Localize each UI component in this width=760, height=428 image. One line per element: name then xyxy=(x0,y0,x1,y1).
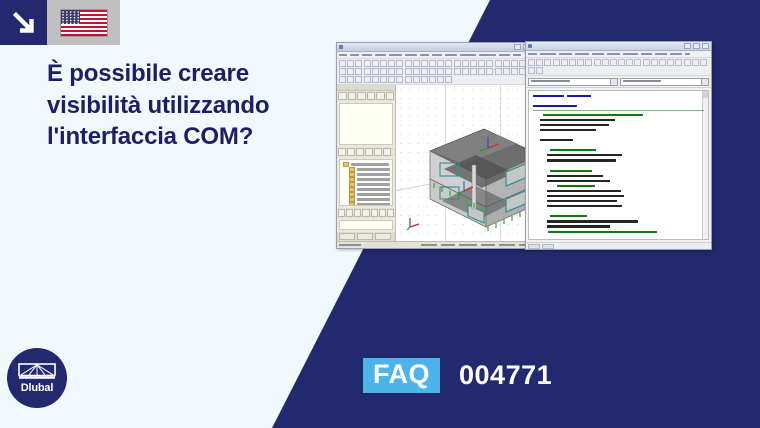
page-title-line-3: l'interfaccia COM? xyxy=(47,121,317,153)
toolbar-icon[interactable] xyxy=(634,59,641,66)
toolbar-icon[interactable] xyxy=(700,59,707,66)
menu-insert[interactable] xyxy=(375,54,386,56)
toolbar-icon[interactable] xyxy=(528,59,535,66)
rfem-title-bar[interactable] xyxy=(337,43,541,52)
navigator-tab-display[interactable] xyxy=(357,233,373,240)
toolbar-icon[interactable] xyxy=(355,60,362,67)
rfem-title-left xyxy=(339,45,343,49)
toolbar-icon[interactable] xyxy=(602,59,609,66)
flag-canton xyxy=(61,10,80,24)
toolbar-icon[interactable] xyxy=(445,68,452,75)
toolbar-icon[interactable] xyxy=(347,60,354,67)
rfem-application-window[interactable] xyxy=(336,42,542,249)
toolbar-icon[interactable] xyxy=(618,59,625,66)
navigator-button[interactable] xyxy=(356,148,364,156)
navigator-tab[interactable] xyxy=(386,92,395,100)
menu-addons[interactable] xyxy=(460,54,476,56)
toolbar-icon[interactable] xyxy=(372,60,379,67)
toolbar-icon[interactable] xyxy=(421,60,428,67)
toolbar-icon[interactable] xyxy=(396,60,403,67)
toolbar-icon[interactable] xyxy=(643,59,650,66)
toolbar-icon[interactable] xyxy=(470,68,477,75)
tree-item-label xyxy=(357,178,391,180)
faq-label: FAQ xyxy=(363,358,440,393)
navigator-tab[interactable] xyxy=(348,92,357,100)
navigator-button[interactable] xyxy=(379,209,386,217)
navigator-tab[interactable] xyxy=(367,92,376,100)
toolbar-icon[interactable] xyxy=(429,68,436,75)
toolbar-icon[interactable] xyxy=(536,59,543,66)
toolbar-icon[interactable] xyxy=(553,59,560,66)
toolbar-icon[interactable] xyxy=(503,68,510,75)
menu-table[interactable] xyxy=(432,54,442,56)
toolbar-icon[interactable] xyxy=(380,60,387,67)
navigator-tab-views[interactable] xyxy=(375,233,391,240)
navigator-tab[interactable] xyxy=(357,92,366,100)
navigator-bottom-tabs[interactable] xyxy=(337,232,395,241)
toolbar-icon[interactable] xyxy=(445,76,452,83)
corner-badges xyxy=(0,0,120,45)
tree-item-label xyxy=(357,188,391,190)
vba-bottom-bar[interactable] xyxy=(526,242,711,249)
procedure-dropdown[interactable] xyxy=(620,78,710,86)
navigator-button[interactable] xyxy=(374,148,382,156)
status-segment xyxy=(459,244,477,246)
menu-ausfuehren[interactable] xyxy=(623,53,638,55)
menu-ansicht[interactable] xyxy=(559,53,572,55)
comment-divider xyxy=(533,110,704,111)
model-viewport[interactable] xyxy=(396,85,541,241)
menu-einfuegen[interactable] xyxy=(575,53,589,55)
toolbar-icon[interactable] xyxy=(594,59,601,66)
arrow-down-right-icon[interactable] xyxy=(0,0,47,45)
toolbar-icon[interactable] xyxy=(339,60,346,67)
page-title: È possibile creare visibilità utilizzand… xyxy=(47,58,317,153)
toolbar-icon[interactable] xyxy=(339,68,346,75)
tree-item-label xyxy=(357,168,391,170)
toolbar-icon[interactable] xyxy=(454,68,461,75)
toolbar-icon[interactable] xyxy=(585,59,592,66)
toolbar-icon[interactable] xyxy=(626,59,633,66)
poster-canvas: È possibile creare visibilità utilizzand… xyxy=(0,0,760,428)
navigator-tab[interactable] xyxy=(338,92,347,100)
project-navigator-panel[interactable] xyxy=(337,85,396,241)
navigator-button[interactable] xyxy=(365,148,373,156)
toolbar-icon[interactable] xyxy=(372,68,379,75)
dlubal-logo[interactable]: Dlubal xyxy=(7,348,67,408)
toolbar-icon[interactable] xyxy=(355,76,362,83)
toolbar-icon[interactable] xyxy=(569,59,576,66)
toolbar-icon[interactable] xyxy=(347,76,354,83)
tree-item-label xyxy=(357,183,391,185)
navigator-bottom-buttons[interactable] xyxy=(337,208,395,218)
toolbar-icon[interactable] xyxy=(405,68,412,75)
faq-identifier: FAQ 004771 xyxy=(363,358,552,393)
object-dropdown[interactable] xyxy=(528,78,618,86)
navigator-tab-data[interactable] xyxy=(339,233,355,240)
toolbar-icon[interactable] xyxy=(364,68,371,75)
toolbar-icon[interactable] xyxy=(405,76,412,83)
us-flag-icon[interactable] xyxy=(47,0,120,45)
toolbar-icon[interactable] xyxy=(421,76,428,83)
toolbar-icon[interactable] xyxy=(429,76,436,83)
status-segment xyxy=(421,244,437,246)
toolbar-icon[interactable] xyxy=(511,60,518,67)
tree-item-label xyxy=(357,198,391,200)
status-text xyxy=(339,244,361,246)
toolbar-icon[interactable] xyxy=(486,60,493,67)
navigator-tab[interactable] xyxy=(376,92,385,100)
toolbar-icon[interactable] xyxy=(364,60,371,67)
minimize-button[interactable] xyxy=(684,43,691,49)
toolbar-icon[interactable] xyxy=(495,68,502,75)
menu-help[interactable] xyxy=(513,54,521,56)
status-segment xyxy=(441,244,455,246)
toolbar-icon[interactable] xyxy=(355,68,362,75)
toolbar-icon[interactable] xyxy=(684,59,691,66)
menu-results[interactable] xyxy=(405,54,417,56)
tree-item-label xyxy=(357,203,391,205)
navigator-mid-buttons[interactable] xyxy=(337,147,395,157)
rfem-app-icon xyxy=(339,45,343,49)
toolbar-icon[interactable] xyxy=(388,60,395,67)
maximize-button[interactable] xyxy=(693,43,700,49)
toolbar-icon[interactable] xyxy=(528,67,535,74)
menu-format[interactable] xyxy=(592,53,604,55)
toolbar-icon[interactable] xyxy=(692,59,699,66)
toolbar-icon[interactable] xyxy=(339,76,346,83)
menu-window[interactable] xyxy=(499,54,510,56)
vba-app-icon xyxy=(528,44,532,48)
tree-item[interactable] xyxy=(342,202,390,206)
tree-item-label xyxy=(357,193,391,195)
toolbar-icon[interactable] xyxy=(675,59,682,66)
model-data-tree[interactable] xyxy=(339,159,393,206)
toolbar-icon[interactable] xyxy=(561,59,568,66)
vba-editor-window[interactable] xyxy=(525,41,712,250)
toolbar-icon[interactable] xyxy=(610,59,617,66)
status-segment xyxy=(499,244,515,246)
vba-window-controls[interactable] xyxy=(684,43,709,49)
toolbar-icon[interactable] xyxy=(454,60,461,67)
toolbar-icon[interactable] xyxy=(437,68,444,75)
toolbar-icon[interactable] xyxy=(503,60,510,67)
toolbar-icon[interactable] xyxy=(421,68,428,75)
toolbar-icon[interactable] xyxy=(544,59,551,66)
toolbar-icon[interactable] xyxy=(396,76,403,83)
page-title-line-1: È possibile creare xyxy=(47,58,317,90)
toolbar-icon[interactable] xyxy=(462,68,469,75)
vba-title-left xyxy=(528,44,532,48)
navigator-button[interactable] xyxy=(338,148,346,156)
code-scrollbar[interactable] xyxy=(702,91,708,239)
vba-code-editor[interactable] xyxy=(528,90,709,240)
toolbar-icon[interactable] xyxy=(437,76,444,83)
navigator-button[interactable] xyxy=(383,148,391,156)
view-mode-button[interactable] xyxy=(542,244,554,249)
status-segment xyxy=(481,244,495,246)
tree-item-label xyxy=(351,163,389,165)
tree-item-label xyxy=(357,173,391,175)
toolbar-icon[interactable] xyxy=(347,68,354,75)
toolbar-icon[interactable] xyxy=(470,60,477,67)
vba-title-bar[interactable] xyxy=(526,42,711,51)
toolbar-icon[interactable] xyxy=(364,76,371,83)
menu-view[interactable] xyxy=(362,54,372,56)
toolbar-icon[interactable] xyxy=(478,60,485,67)
toolbar-icon[interactable] xyxy=(486,68,493,75)
origin-axis-triad-icon xyxy=(406,215,422,231)
view-mode-button[interactable] xyxy=(528,244,540,249)
menu-debuggen[interactable] xyxy=(607,53,620,55)
vba-toolbar[interactable] xyxy=(526,58,711,76)
menu-bearbeiten[interactable] xyxy=(540,53,556,55)
vba-object-procedure-selectors[interactable] xyxy=(526,76,711,88)
toolbar-icon[interactable] xyxy=(388,68,395,75)
menu-datei[interactable] xyxy=(528,53,537,55)
menu-calculate[interactable] xyxy=(389,54,402,56)
flag-graphic xyxy=(61,10,107,36)
toolbar-icon[interactable] xyxy=(413,68,420,75)
navigator-button[interactable] xyxy=(346,209,353,217)
navigator-button[interactable] xyxy=(338,209,345,217)
menu-options[interactable] xyxy=(445,54,457,56)
dlubal-wordmark: Dlubal xyxy=(21,383,53,394)
close-button[interactable] xyxy=(702,43,709,49)
toolbar-icon[interactable] xyxy=(495,60,502,67)
menu-file[interactable] xyxy=(339,54,347,56)
menu-tools[interactable] xyxy=(420,54,429,56)
toolbar-icon[interactable] xyxy=(445,60,452,67)
toolbar-icon[interactable] xyxy=(659,59,666,66)
menu-edit[interactable] xyxy=(350,54,359,56)
dlubal-frame-icon xyxy=(18,362,56,382)
toolbar-icon[interactable] xyxy=(429,60,436,67)
toolbar-icon[interactable] xyxy=(536,67,543,74)
minimize-button[interactable] xyxy=(514,44,521,50)
navigator-upper-list[interactable] xyxy=(339,103,393,145)
menu-extras[interactable] xyxy=(479,54,496,56)
menu-hilfe[interactable] xyxy=(685,53,690,55)
toolbar-icon[interactable] xyxy=(511,68,518,75)
menu-extras[interactable] xyxy=(641,53,652,55)
folder-icon xyxy=(349,202,355,206)
navigator-button[interactable] xyxy=(387,209,394,217)
vba-menu-bar[interactable] xyxy=(526,51,711,58)
navigator-button[interactable] xyxy=(371,209,378,217)
menu-fenster[interactable] xyxy=(670,53,682,55)
toolbar-icon[interactable] xyxy=(462,60,469,67)
menu-add-ins[interactable] xyxy=(655,53,667,55)
toolbar-icon[interactable] xyxy=(405,60,412,67)
building-3d-model[interactable] xyxy=(422,115,541,233)
navigator-tab-strip[interactable] xyxy=(337,91,395,101)
navigator-button[interactable] xyxy=(362,209,369,217)
toolbar-icon[interactable] xyxy=(396,68,403,75)
toolbar-icon[interactable] xyxy=(413,76,420,83)
navigator-button[interactable] xyxy=(354,209,361,217)
toolbar-icon[interactable] xyxy=(667,59,674,66)
toolbar-icon[interactable] xyxy=(651,59,658,66)
rfem-toolbar[interactable] xyxy=(337,59,541,85)
scrollbar-thumb[interactable] xyxy=(703,91,708,98)
toolbar-icon[interactable] xyxy=(380,76,387,83)
toolbar-icon[interactable] xyxy=(380,68,387,75)
toolbar-icon[interactable] xyxy=(478,68,485,75)
faq-number: 004771 xyxy=(459,362,552,389)
toolbar-icon[interactable] xyxy=(577,59,584,66)
rfem-body xyxy=(337,85,541,241)
rfem-menu-bar[interactable] xyxy=(337,52,541,59)
navigator-button[interactable] xyxy=(347,148,355,156)
toolbar-icon[interactable] xyxy=(372,76,379,83)
toolbar-icon[interactable] xyxy=(413,60,420,67)
toolbar-icon[interactable] xyxy=(388,76,395,83)
navigator-filter-field[interactable] xyxy=(339,220,393,230)
rfem-status-bar xyxy=(337,241,541,248)
page-title-line-2: visibilità utilizzando xyxy=(47,90,317,122)
toolbar-icon[interactable] xyxy=(437,60,444,67)
